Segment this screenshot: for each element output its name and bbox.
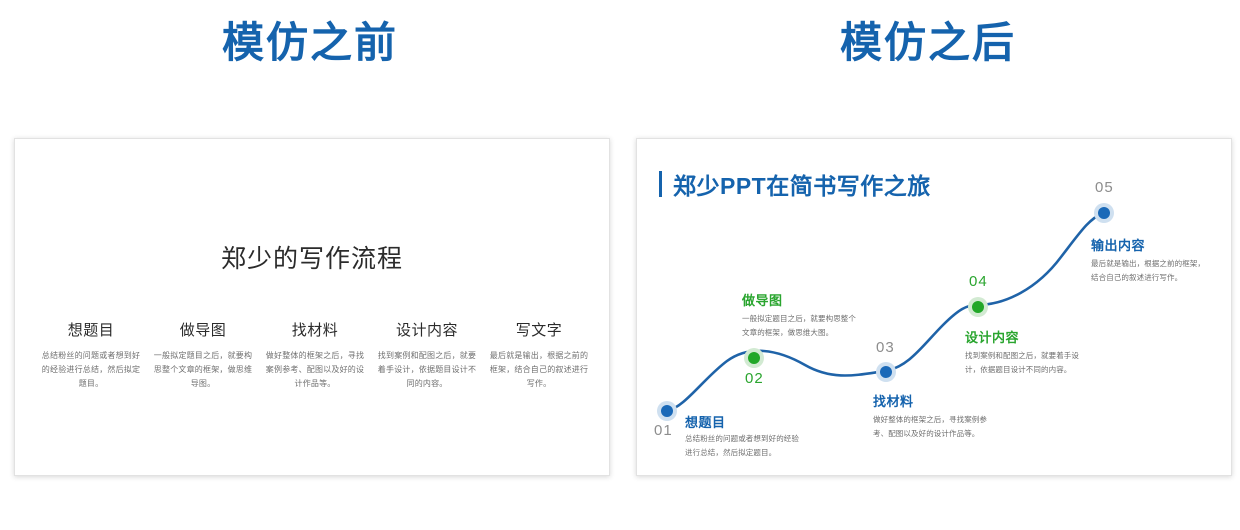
- step-body-04-line1: 找到案例和配图之后，就要着手设: [965, 349, 1079, 364]
- before-column: 设计内容 找到案例和配图之后，就要着手设计，依据题目设计不同的内容。: [377, 319, 477, 391]
- column-body: 做好整体的框架之后，寻找案例参考、配图以及好的设计作品等。: [265, 349, 365, 391]
- step-body-01-line2: 进行总结，然后拟定题目。: [685, 446, 776, 461]
- column-body: 最后就是输出，根据之前的框架，结合自己的叙述进行写作。: [489, 349, 589, 391]
- step-body-02-line2: 文章的框架，做思维大图。: [742, 326, 833, 341]
- node-step-03[interactable]: [876, 362, 896, 382]
- step-body-05-line1: 最后就是输出，根据之前的框架，: [1091, 257, 1205, 272]
- step-title-01: 想题目: [685, 412, 726, 431]
- step-title-05: 输出内容: [1091, 235, 1145, 254]
- heading-after: 模仿之后: [840, 18, 1016, 68]
- node-core: [880, 366, 892, 378]
- step-body-03-line1: 做好整体的框架之后，寻找案例参: [873, 413, 987, 428]
- step-body-02-line1: 一般拟定题目之后，就要构思整个: [742, 312, 856, 327]
- step-number-03: 03: [876, 339, 895, 356]
- step-number-05: 05: [1095, 179, 1114, 196]
- before-column: 想题目 总结粉丝的问题或者想到好的经验进行总结，然后拟定题目。: [41, 319, 141, 391]
- slide-comparison-stage: 模仿之前 模仿之后 郑少的写作流程 想题目 总结粉丝的问题或者想到好的经验进行总…: [0, 0, 1240, 530]
- column-title: 想题目: [41, 319, 141, 340]
- node-core: [972, 301, 984, 313]
- column-title: 设计内容: [377, 319, 477, 340]
- step-body-01-line1: 总结粉丝的问题或者想到好的经验: [685, 432, 799, 447]
- column-title: 找材料: [265, 319, 365, 340]
- node-step-04[interactable]: [968, 297, 988, 317]
- before-slide-heading: 郑少的写作流程: [15, 239, 609, 275]
- after-slide-card: 郑少PPT在简书写作之旅 01 想题目 总结粉丝的问题或者想到好的经验 进行总结…: [636, 138, 1232, 476]
- node-core: [1098, 207, 1110, 219]
- step-title-04: 设计内容: [965, 327, 1019, 346]
- node-step-05[interactable]: [1094, 203, 1114, 223]
- step-body-04-line2: 计，依据题目设计不同的内容。: [965, 363, 1071, 378]
- node-core: [661, 405, 673, 417]
- before-column: 做导图 一般拟定题目之后，就要构思整个文章的框架，做思维导图。: [153, 319, 253, 391]
- step-number-04: 04: [969, 273, 988, 290]
- before-column: 写文字 最后就是输出，根据之前的框架，结合自己的叙述进行写作。: [489, 319, 589, 391]
- heading-before: 模仿之前: [222, 18, 398, 68]
- column-title: 做导图: [153, 319, 253, 340]
- before-slide-card: 郑少的写作流程 想题目 总结粉丝的问题或者想到好的经验进行总结，然后拟定题目。 …: [14, 138, 610, 476]
- before-column: 找材料 做好整体的框架之后，寻找案例参考、配图以及好的设计作品等。: [265, 319, 365, 391]
- step-body-03-line2: 考、配图以及好的设计作品等。: [873, 427, 979, 442]
- step-number-01: 01: [654, 422, 673, 439]
- before-columns: 想题目 总结粉丝的问题或者想到好的经验进行总结，然后拟定题目。 做导图 一般拟定…: [41, 319, 589, 391]
- column-title: 写文字: [489, 319, 589, 340]
- node-step-02[interactable]: [744, 348, 764, 368]
- column-body: 总结粉丝的问题或者想到好的经验进行总结，然后拟定题目。: [41, 349, 141, 391]
- step-title-02: 做导图: [742, 290, 783, 309]
- step-number-02: 02: [745, 370, 764, 387]
- node-core: [748, 352, 760, 364]
- step-body-05-line2: 结合自己的叙述进行写作。: [1091, 271, 1182, 286]
- column-body: 一般拟定题目之后，就要构思整个文章的框架，做思维导图。: [153, 349, 253, 391]
- node-step-01[interactable]: [657, 401, 677, 421]
- step-title-03: 找材料: [873, 391, 914, 410]
- column-body: 找到案例和配图之后，就要着手设计，依据题目设计不同的内容。: [377, 349, 477, 391]
